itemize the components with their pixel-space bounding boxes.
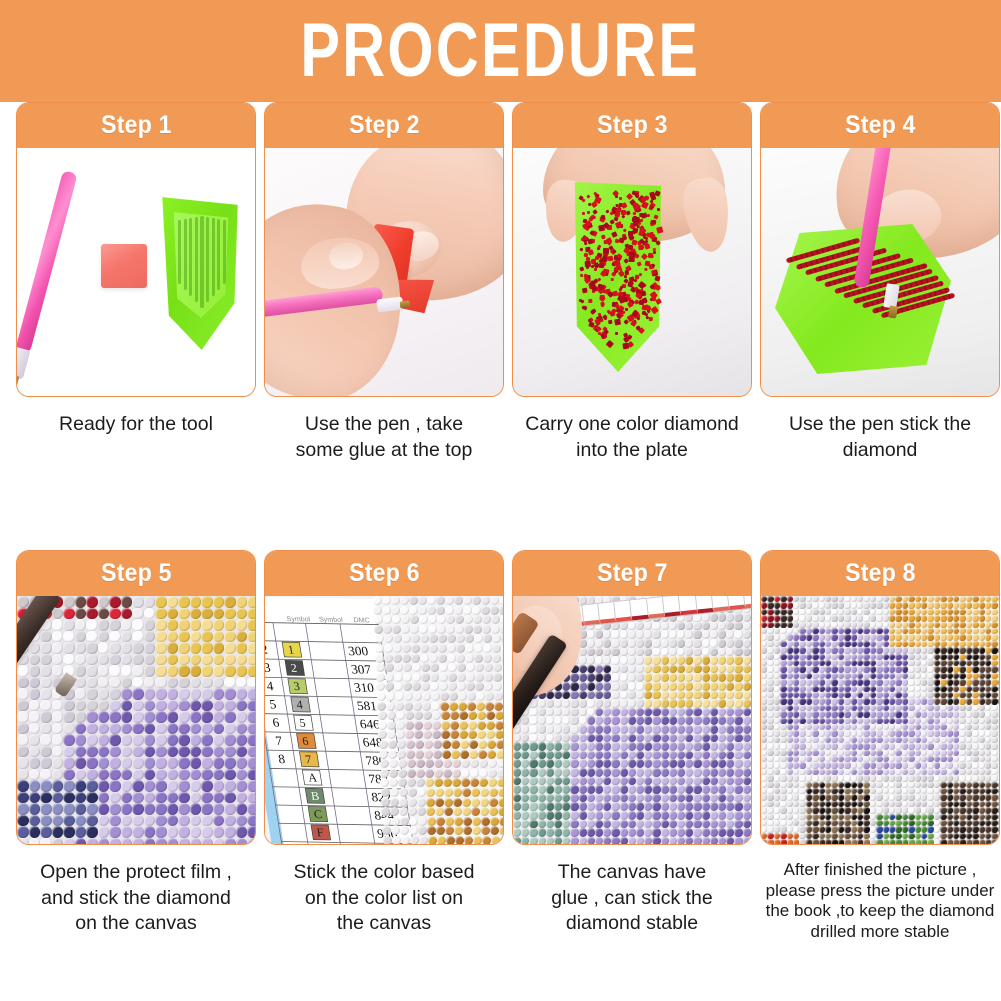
bead — [98, 734, 110, 746]
bead — [456, 654, 465, 663]
bead — [718, 613, 726, 622]
bead — [669, 725, 677, 734]
bead — [63, 734, 75, 746]
bead — [998, 814, 999, 820]
step-badge-label-1: Step 1 — [101, 111, 172, 140]
bead — [373, 596, 382, 605]
bead — [876, 839, 882, 845]
bead — [499, 596, 503, 605]
bead — [863, 666, 869, 672]
bead — [452, 778, 461, 787]
bead — [213, 803, 225, 815]
bead — [529, 716, 537, 725]
bead — [409, 596, 418, 605]
bead — [439, 682, 448, 691]
bead — [908, 794, 914, 800]
bead — [521, 785, 529, 794]
bead — [620, 794, 628, 803]
bead — [734, 673, 742, 682]
tray-groove — [206, 217, 209, 302]
bead — [636, 811, 644, 820]
bead — [477, 721, 486, 730]
bead — [702, 682, 710, 691]
bead — [644, 639, 652, 648]
bead — [500, 836, 503, 845]
bead — [972, 839, 978, 845]
bead — [587, 630, 595, 639]
bead — [29, 780, 41, 792]
bead — [972, 762, 978, 768]
bead — [685, 639, 693, 648]
bead — [644, 768, 652, 777]
bead — [876, 634, 882, 640]
diamond-bead — [619, 237, 626, 244]
bead — [876, 711, 882, 717]
bead — [661, 716, 669, 725]
step-badge-label-2: Step 2 — [349, 111, 420, 140]
bead — [991, 666, 997, 672]
bead — [726, 777, 734, 786]
bead — [155, 792, 167, 804]
bead — [991, 634, 997, 640]
diamond-bead — [638, 281, 646, 289]
bead — [52, 803, 64, 815]
bead — [394, 663, 403, 672]
bead — [743, 802, 751, 811]
bead — [743, 820, 751, 829]
bead — [485, 702, 494, 711]
bead — [529, 751, 537, 760]
bead — [382, 817, 391, 826]
bead — [98, 803, 110, 815]
caption-line: the canvas — [264, 911, 504, 937]
bead — [895, 679, 901, 685]
bead — [652, 699, 660, 708]
bead — [475, 682, 484, 691]
bead — [86, 711, 98, 723]
bead — [236, 815, 248, 827]
bead — [895, 775, 901, 781]
bead — [652, 734, 660, 743]
bead — [895, 794, 901, 800]
bead — [445, 826, 454, 835]
bead — [213, 792, 225, 804]
bead — [167, 654, 179, 666]
bead — [98, 700, 110, 712]
bead — [726, 768, 734, 777]
bead — [677, 716, 685, 725]
bead — [710, 708, 718, 717]
bead — [570, 811, 578, 820]
bead — [465, 634, 474, 643]
bead — [178, 723, 190, 735]
bead — [236, 677, 248, 689]
bead — [247, 769, 255, 781]
bead — [29, 642, 41, 654]
bead — [121, 711, 133, 723]
bead — [167, 665, 179, 677]
bead — [75, 688, 87, 700]
bead — [401, 625, 410, 634]
bead — [75, 746, 87, 758]
bead — [780, 730, 786, 736]
bead — [446, 615, 455, 624]
bead — [499, 826, 503, 835]
bead — [669, 639, 677, 648]
diamond-bead — [624, 269, 627, 272]
bead — [693, 665, 701, 674]
bead — [570, 691, 578, 700]
bead — [587, 682, 595, 691]
bead — [734, 648, 742, 657]
bead — [603, 665, 611, 674]
bead — [155, 608, 167, 620]
bead — [109, 746, 121, 758]
bead — [702, 622, 710, 631]
bead — [734, 777, 742, 786]
bead — [467, 692, 476, 701]
bead — [611, 699, 619, 708]
bead — [661, 828, 669, 837]
bead — [436, 596, 445, 605]
bead — [486, 730, 495, 739]
bead — [693, 708, 701, 717]
bead — [513, 811, 521, 820]
bead — [420, 654, 429, 663]
bead — [726, 708, 734, 717]
bead — [767, 666, 773, 672]
diamond-bead — [623, 343, 630, 350]
bead — [562, 682, 570, 691]
bead — [652, 777, 660, 786]
bead — [908, 730, 914, 736]
bead — [644, 708, 652, 717]
bead — [554, 837, 562, 845]
bead — [595, 665, 603, 674]
bead — [513, 828, 521, 837]
pen-tip-icon — [17, 375, 19, 392]
bead — [414, 730, 423, 739]
bead — [213, 700, 225, 712]
bead — [628, 630, 636, 639]
bead — [895, 615, 901, 621]
bead — [383, 615, 392, 624]
bead — [927, 602, 933, 608]
diamond-bead — [592, 215, 595, 218]
bead — [447, 654, 456, 663]
bead — [247, 792, 255, 804]
bead — [521, 742, 529, 751]
bead — [927, 794, 933, 800]
bead — [155, 815, 167, 827]
bead — [998, 826, 999, 832]
bead — [726, 734, 734, 743]
bead — [940, 807, 946, 813]
bead — [636, 785, 644, 794]
bead — [538, 794, 546, 803]
bead — [236, 608, 248, 620]
bead — [579, 837, 587, 845]
bead — [661, 622, 669, 631]
bead — [734, 725, 742, 734]
bead — [178, 700, 190, 712]
bead — [430, 682, 439, 691]
chart-dmc-code: 307 — [350, 662, 373, 677]
pink-pen-icon — [17, 170, 78, 354]
bead — [587, 725, 595, 734]
bead — [661, 682, 669, 691]
bead — [86, 642, 98, 654]
bead — [29, 665, 41, 677]
bead — [991, 730, 997, 736]
bead — [380, 759, 389, 768]
bead — [603, 648, 611, 657]
bead — [437, 836, 446, 845]
bead — [475, 673, 484, 682]
bead — [485, 692, 494, 701]
bead — [247, 688, 255, 700]
bead — [628, 725, 636, 734]
bead — [247, 746, 255, 758]
bead — [644, 828, 652, 837]
bead — [595, 725, 603, 734]
bead — [401, 615, 410, 624]
bead — [86, 826, 98, 838]
bead — [109, 723, 121, 735]
glue-square-icon — [101, 244, 147, 288]
bead — [475, 663, 484, 672]
bead — [927, 807, 933, 813]
bead — [718, 639, 726, 648]
bead — [998, 718, 999, 724]
bead — [972, 602, 978, 608]
bead — [457, 663, 466, 672]
bead — [636, 716, 644, 725]
bead — [710, 613, 718, 622]
bead — [595, 837, 603, 845]
diamond-bead — [637, 245, 643, 251]
bead — [489, 788, 498, 797]
bead — [579, 725, 587, 734]
diamond-bead — [649, 317, 653, 321]
bead — [895, 647, 901, 653]
bead — [661, 768, 669, 777]
bead — [908, 679, 914, 685]
bead — [998, 641, 999, 647]
bead — [603, 794, 611, 803]
bead — [178, 815, 190, 827]
step-caption-6: Stick the color based on the color list … — [264, 860, 504, 937]
bead — [628, 648, 636, 657]
bead — [52, 746, 64, 758]
bead — [831, 679, 837, 685]
bead — [972, 666, 978, 672]
bead — [546, 759, 554, 768]
bead — [490, 596, 499, 605]
bead — [959, 839, 965, 845]
bead — [685, 759, 693, 768]
bead — [483, 644, 492, 653]
bead — [991, 647, 997, 653]
bead — [780, 762, 786, 768]
bead — [895, 666, 901, 672]
bead — [844, 615, 850, 621]
bead — [570, 759, 578, 768]
bead — [546, 820, 554, 829]
bead — [628, 716, 636, 725]
bead — [799, 666, 805, 672]
bead — [453, 798, 462, 807]
bead — [652, 828, 660, 837]
bead — [780, 679, 786, 685]
bead — [685, 794, 693, 803]
bead — [812, 711, 818, 717]
bead — [726, 716, 734, 725]
bead — [644, 716, 652, 725]
bead — [644, 734, 652, 743]
bead — [144, 723, 156, 735]
step-cell-3: Step 3 Carry one color diamond into the … — [512, 102, 752, 397]
bead — [109, 642, 121, 654]
bead — [677, 699, 685, 708]
bead — [498, 788, 503, 797]
bead — [247, 654, 255, 666]
bead — [908, 615, 914, 621]
bead — [620, 699, 628, 708]
bead — [75, 734, 87, 746]
bead — [471, 798, 480, 807]
bead — [224, 631, 236, 643]
bead — [471, 788, 480, 797]
bead — [726, 613, 734, 622]
bead — [844, 775, 850, 781]
bead — [451, 740, 460, 749]
bead — [579, 794, 587, 803]
bead — [513, 794, 521, 803]
bead — [109, 631, 121, 643]
bead — [636, 648, 644, 657]
bead — [414, 711, 423, 720]
bead — [75, 619, 87, 631]
bead — [611, 802, 619, 811]
bead — [726, 820, 734, 829]
bead — [529, 794, 537, 803]
bead — [743, 742, 751, 751]
bead — [75, 792, 87, 804]
bead — [442, 740, 451, 749]
bead — [702, 648, 710, 657]
bead — [562, 802, 570, 811]
bead — [29, 700, 41, 712]
bead — [538, 811, 546, 820]
caption-line: Stick the color based — [264, 860, 504, 886]
bead — [17, 780, 29, 792]
bead — [726, 811, 734, 820]
bead — [416, 778, 425, 787]
bead — [844, 634, 850, 640]
bead — [991, 679, 997, 685]
bead — [63, 826, 75, 838]
bead — [477, 711, 486, 720]
bead — [644, 785, 652, 794]
bead — [595, 656, 603, 665]
step-photo-2 — [265, 148, 503, 397]
bead — [876, 615, 882, 621]
bead — [379, 740, 388, 749]
bead — [546, 794, 554, 803]
bead — [201, 734, 213, 746]
bead — [702, 742, 710, 751]
bead — [831, 666, 837, 672]
bead — [98, 596, 110, 608]
bead — [407, 778, 416, 787]
bead — [554, 751, 562, 760]
bead — [546, 785, 554, 794]
bead — [495, 711, 503, 720]
bead — [144, 608, 156, 620]
bead — [693, 716, 701, 725]
bead — [247, 700, 255, 712]
bead — [661, 785, 669, 794]
bead — [959, 730, 965, 736]
bead — [52, 757, 64, 769]
bead — [677, 742, 685, 751]
bead — [734, 691, 742, 700]
step-card-1: Step 1 — [16, 102, 256, 397]
bead — [908, 647, 914, 653]
bead — [644, 699, 652, 708]
bead — [998, 730, 999, 736]
bead — [562, 837, 570, 845]
bead — [959, 711, 965, 717]
bead — [546, 734, 554, 743]
bead — [718, 802, 726, 811]
bead — [411, 644, 420, 653]
diamond-bead — [608, 319, 613, 324]
bead — [529, 777, 537, 786]
diamond-bead — [651, 305, 659, 313]
bead — [445, 596, 454, 605]
bead — [863, 743, 869, 749]
bead — [863, 826, 869, 832]
bead — [201, 608, 213, 620]
bead — [492, 644, 501, 653]
bead — [472, 817, 481, 826]
bead — [991, 826, 997, 832]
bead — [436, 826, 445, 835]
bead — [381, 807, 390, 816]
bead — [109, 711, 121, 723]
bead — [863, 711, 869, 717]
bead — [940, 615, 946, 621]
bead — [121, 792, 133, 804]
bead — [178, 677, 190, 689]
bead — [121, 734, 133, 746]
bead — [456, 634, 465, 643]
legend-cell — [663, 596, 681, 617]
bead — [991, 602, 997, 608]
bead — [587, 828, 595, 837]
bead — [644, 837, 652, 845]
bead — [434, 769, 443, 778]
bead — [652, 742, 660, 751]
bead — [959, 602, 965, 608]
bead — [718, 725, 726, 734]
bead — [63, 746, 75, 758]
bead — [677, 768, 685, 777]
bead — [40, 665, 52, 677]
diamond-bead — [657, 207, 660, 210]
